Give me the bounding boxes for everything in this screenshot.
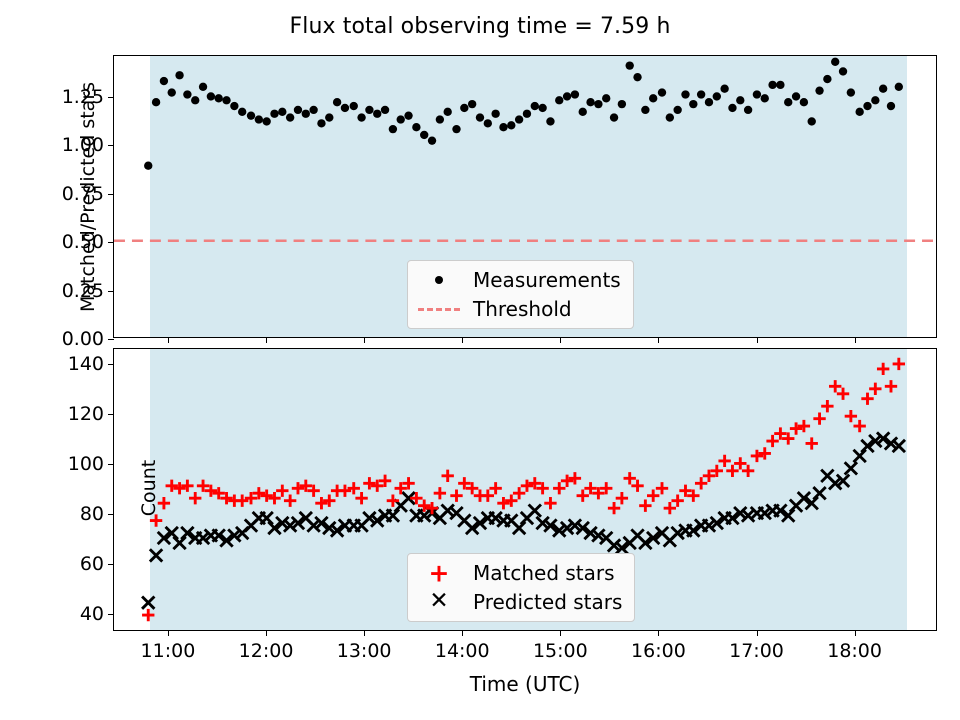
data-point-measurement <box>199 83 207 91</box>
data-point-matched-star <box>348 482 360 494</box>
data-point-measurement <box>294 106 302 114</box>
data-point-measurement <box>404 111 412 119</box>
data-point-measurement <box>420 131 428 139</box>
legend-label-predicted-stars: Predicted stars <box>473 590 622 614</box>
data-point-measurement <box>350 102 358 110</box>
data-point-matched-star <box>497 497 509 509</box>
data-point-matched-star <box>608 502 620 514</box>
data-point-measurement <box>484 119 492 127</box>
x-tick-mark <box>658 630 659 636</box>
x-tick-mark <box>364 337 365 343</box>
y-tick-label: 40 <box>80 603 104 625</box>
y-tick-mark <box>108 464 114 465</box>
x-tick-mark <box>855 630 856 636</box>
data-point-measurement <box>452 125 460 133</box>
data-point-matched-star <box>813 412 825 424</box>
data-point-matched-star <box>323 495 335 507</box>
data-point-matched-star <box>544 497 556 509</box>
data-point-measurement <box>768 81 776 89</box>
data-point-measurement <box>800 98 808 106</box>
data-point-measurement <box>428 137 436 145</box>
y-tick-label: 1.25 <box>62 86 104 108</box>
bottom-panel-legend[interactable]: + Matched stars ✕ Predicted stars <box>407 553 635 622</box>
data-point-matched-star <box>355 492 367 504</box>
x-axis-label: Time (UTC) <box>113 672 937 696</box>
bottom-panel-y-axis-label: Count <box>138 328 160 648</box>
x-tick-label: 13:00 <box>337 640 392 662</box>
data-point-matched-star <box>695 477 707 489</box>
data-point-measurement <box>215 94 223 102</box>
y-tick-label: 140 <box>68 353 104 375</box>
data-point-matched-star <box>624 472 636 484</box>
data-point-predicted-star <box>513 522 525 534</box>
x-tick-label: 14:00 <box>435 640 490 662</box>
data-point-predicted-star <box>529 504 541 516</box>
x-tick-mark <box>462 337 463 343</box>
y-tick-label: 120 <box>68 403 104 425</box>
plus-marker-icon: + <box>418 562 460 584</box>
data-point-matched-star <box>450 490 462 502</box>
legend-item-threshold[interactable]: Threshold <box>418 297 621 321</box>
data-point-measurement <box>468 100 476 108</box>
data-point-measurement <box>673 106 681 114</box>
data-point-matched-star <box>569 472 581 484</box>
data-point-matched-star <box>276 485 288 497</box>
data-point-measurement <box>546 117 554 125</box>
y-tick-mark <box>108 339 114 340</box>
data-point-matched-star <box>837 388 849 400</box>
legend-label-threshold: Threshold <box>473 297 572 321</box>
data-point-matched-star <box>869 383 881 395</box>
data-point-matched-star <box>742 465 754 477</box>
data-point-matched-star <box>861 393 873 405</box>
data-point-measurement <box>207 92 215 100</box>
x-tick-mark <box>168 337 169 343</box>
data-point-matched-star <box>284 495 296 507</box>
y-tick-mark <box>108 614 114 615</box>
data-point-measurement <box>666 113 674 121</box>
data-point-matched-star <box>734 457 746 469</box>
data-point-measurement <box>381 106 389 114</box>
data-point-measurement <box>776 81 784 89</box>
data-point-measurement <box>436 115 444 123</box>
data-point-measurement <box>681 90 689 98</box>
data-point-matched-star <box>315 497 327 509</box>
data-point-matched-star <box>798 420 810 432</box>
data-point-measurement <box>286 113 294 121</box>
data-point-measurement <box>831 58 839 66</box>
x-tick-label: 15:00 <box>533 640 588 662</box>
data-point-measurement <box>357 113 365 121</box>
data-point-matched-star <box>616 492 628 504</box>
y-tick-mark <box>108 145 114 146</box>
data-point-matched-star <box>656 482 668 494</box>
data-point-measurement <box>863 102 871 110</box>
data-point-matched-star <box>893 358 905 370</box>
x-tick-label: 11:00 <box>141 640 196 662</box>
data-point-measurement <box>555 96 563 104</box>
data-point-measurement <box>333 98 341 106</box>
y-tick-label: 100 <box>68 453 104 475</box>
data-point-measurement <box>412 123 420 131</box>
data-point-measurement <box>586 98 594 106</box>
data-point-measurement <box>808 117 816 125</box>
data-point-measurement <box>325 113 333 121</box>
data-point-measurement <box>753 90 761 98</box>
data-point-measurement <box>262 117 270 125</box>
data-point-matched-star <box>829 380 841 392</box>
data-point-measurement <box>341 104 349 112</box>
data-point-matched-star <box>173 482 185 494</box>
data-point-measurement <box>610 113 618 121</box>
data-point-measurement <box>270 110 278 118</box>
data-point-measurement <box>247 111 255 119</box>
x-tick-mark <box>658 337 659 343</box>
data-point-measurement <box>689 100 697 108</box>
data-point-predicted-star <box>853 450 865 462</box>
data-point-measurement <box>255 115 263 123</box>
data-point-matched-star <box>505 495 517 507</box>
data-point-measurement <box>302 110 310 118</box>
data-point-measurement <box>460 104 468 112</box>
data-point-measurement <box>792 92 800 100</box>
data-point-matched-star <box>521 480 533 492</box>
data-point-matched-star <box>885 380 897 392</box>
x-tick-mark <box>757 630 758 636</box>
legend-item-predicted-stars[interactable]: ✕ Predicted stars <box>418 590 622 614</box>
data-point-measurement <box>531 102 539 110</box>
data-point-predicted-star <box>173 537 185 549</box>
data-point-measurement <box>736 96 744 104</box>
data-point-measurement <box>594 100 602 108</box>
y-tick-mark <box>108 364 114 365</box>
data-point-measurement <box>847 88 855 96</box>
data-point-matched-star <box>726 465 738 477</box>
data-point-measurement <box>389 125 397 133</box>
data-point-matched-star <box>561 475 573 487</box>
y-tick-mark <box>108 97 114 98</box>
data-point-matched-star <box>181 480 193 492</box>
y-tick-label: 60 <box>80 553 104 575</box>
data-point-measurement <box>183 90 191 98</box>
y-tick-mark <box>108 564 114 565</box>
data-point-matched-star <box>489 482 501 494</box>
data-point-matched-star <box>790 422 802 434</box>
data-point-matched-star <box>877 363 889 375</box>
data-point-matched-star <box>387 495 399 507</box>
data-point-measurement <box>761 94 769 102</box>
data-point-measurement <box>499 123 507 131</box>
data-point-measurement <box>160 77 168 85</box>
data-point-measurement <box>618 100 626 108</box>
y-tick-label: 80 <box>80 503 104 525</box>
data-point-measurement <box>365 106 373 114</box>
data-point-matched-star <box>268 492 280 504</box>
data-point-measurement <box>633 73 641 81</box>
data-point-matched-star <box>260 490 272 502</box>
x-tick-label: 12:00 <box>239 640 294 662</box>
data-point-measurement <box>697 90 705 98</box>
y-tick-label: 0.00 <box>62 328 104 350</box>
dot-marker-icon <box>418 269 460 291</box>
data-point-matched-star <box>513 487 525 499</box>
data-point-measurement <box>238 108 246 116</box>
data-point-measurement <box>152 98 160 106</box>
data-point-measurement <box>563 92 571 100</box>
data-point-predicted-star <box>387 509 399 521</box>
data-point-measurement <box>309 106 317 114</box>
data-point-measurement <box>476 113 484 121</box>
data-point-predicted-star <box>260 512 272 524</box>
x-tick-mark <box>855 337 856 343</box>
data-point-predicted-star <box>845 462 857 474</box>
data-point-measurement <box>523 110 531 118</box>
cross-marker-icon: ✕ <box>418 591 460 613</box>
data-point-measurement <box>658 88 666 96</box>
data-point-measurement <box>728 104 736 112</box>
figure-canvas: Flux total observing time = 7.59 h Match… <box>0 0 960 720</box>
x-tick-mark <box>560 630 561 636</box>
data-point-measurement <box>602 94 610 102</box>
data-point-measurement <box>278 108 286 116</box>
data-point-predicted-star <box>813 487 825 499</box>
data-point-measurement <box>720 85 728 93</box>
data-point-measurement <box>713 92 721 100</box>
data-point-matched-star <box>806 437 818 449</box>
data-point-measurement <box>317 119 325 127</box>
data-point-measurement <box>823 75 831 83</box>
data-point-measurement <box>222 96 230 104</box>
data-point-matched-star <box>718 455 730 467</box>
data-point-measurement <box>895 83 903 91</box>
data-point-measurement <box>579 108 587 116</box>
data-point-matched-star <box>845 410 857 422</box>
x-tick-label: 17:00 <box>729 640 784 662</box>
data-point-matched-star <box>759 447 771 459</box>
y-tick-mark <box>108 291 114 292</box>
data-point-matched-star <box>577 490 589 502</box>
data-point-measurement <box>784 98 792 106</box>
data-point-measurement <box>538 104 546 112</box>
data-point-measurement <box>491 110 499 118</box>
data-point-matched-star <box>639 500 651 512</box>
data-point-matched-star <box>671 495 683 507</box>
data-point-measurement <box>175 71 183 79</box>
data-point-matched-star <box>853 420 865 432</box>
data-point-measurement <box>887 102 895 110</box>
data-point-measurement <box>855 108 863 116</box>
legend-item-matched-stars[interactable]: + Matched stars <box>418 561 622 585</box>
data-point-measurement <box>626 61 634 69</box>
data-point-matched-star <box>442 470 454 482</box>
data-point-matched-star <box>434 487 446 499</box>
dashed-line-marker-icon <box>418 298 460 320</box>
data-point-matched-star <box>292 482 304 494</box>
data-point-measurement <box>191 96 199 104</box>
x-tick-mark <box>757 337 758 343</box>
data-point-measurement <box>871 96 879 104</box>
data-point-measurement <box>744 106 752 114</box>
y-tick-mark <box>108 414 114 415</box>
data-point-measurement <box>641 106 649 114</box>
data-point-measurement <box>705 98 713 106</box>
data-point-matched-star <box>821 400 833 412</box>
data-point-matched-star <box>751 450 763 462</box>
x-tick-label: 16:00 <box>631 640 686 662</box>
x-tick-mark <box>462 630 463 636</box>
x-tick-mark <box>560 337 561 343</box>
y-tick-mark <box>108 514 114 515</box>
data-point-measurement <box>839 67 847 75</box>
data-point-measurement <box>571 90 579 98</box>
data-point-measurement <box>168 88 176 96</box>
data-point-matched-star <box>664 502 676 514</box>
x-tick-mark <box>364 630 365 636</box>
data-point-measurement <box>444 108 452 116</box>
data-point-measurement <box>397 115 405 123</box>
y-tick-mark <box>108 194 114 195</box>
y-tick-mark <box>108 242 114 243</box>
data-point-measurement <box>515 115 523 123</box>
x-tick-label: 18:00 <box>827 640 882 662</box>
top-panel-legend[interactable]: Measurements Threshold <box>407 260 634 329</box>
data-point-measurement <box>815 86 823 94</box>
legend-item-measurements[interactable]: Measurements <box>418 268 621 292</box>
data-point-matched-star <box>189 492 201 504</box>
y-tick-label: 0.75 <box>62 183 104 205</box>
y-tick-label: 0.50 <box>62 231 104 253</box>
legend-label-measurements: Measurements <box>473 268 621 292</box>
x-tick-mark <box>266 337 267 343</box>
y-tick-label: 1.00 <box>62 134 104 156</box>
data-point-measurement <box>507 121 515 129</box>
data-point-measurement <box>373 110 381 118</box>
data-point-matched-star <box>482 490 494 502</box>
data-point-measurement <box>144 162 152 170</box>
data-point-measurement <box>649 94 657 102</box>
data-point-measurement <box>879 85 887 93</box>
data-point-matched-star <box>631 480 643 492</box>
figure-title: Flux total observing time = 7.59 h <box>0 14 960 39</box>
x-tick-mark <box>168 630 169 636</box>
data-point-matched-star <box>647 490 659 502</box>
data-point-matched-star <box>766 435 778 447</box>
data-point-matched-star <box>363 477 375 489</box>
data-point-matched-star <box>339 485 351 497</box>
y-tick-label: 0.25 <box>62 280 104 302</box>
data-point-matched-star <box>236 495 248 507</box>
data-point-matched-star <box>553 482 565 494</box>
data-point-measurement <box>230 102 238 110</box>
x-tick-mark <box>266 630 267 636</box>
data-point-matched-star <box>166 480 178 492</box>
legend-label-matched-stars: Matched stars <box>473 561 615 585</box>
